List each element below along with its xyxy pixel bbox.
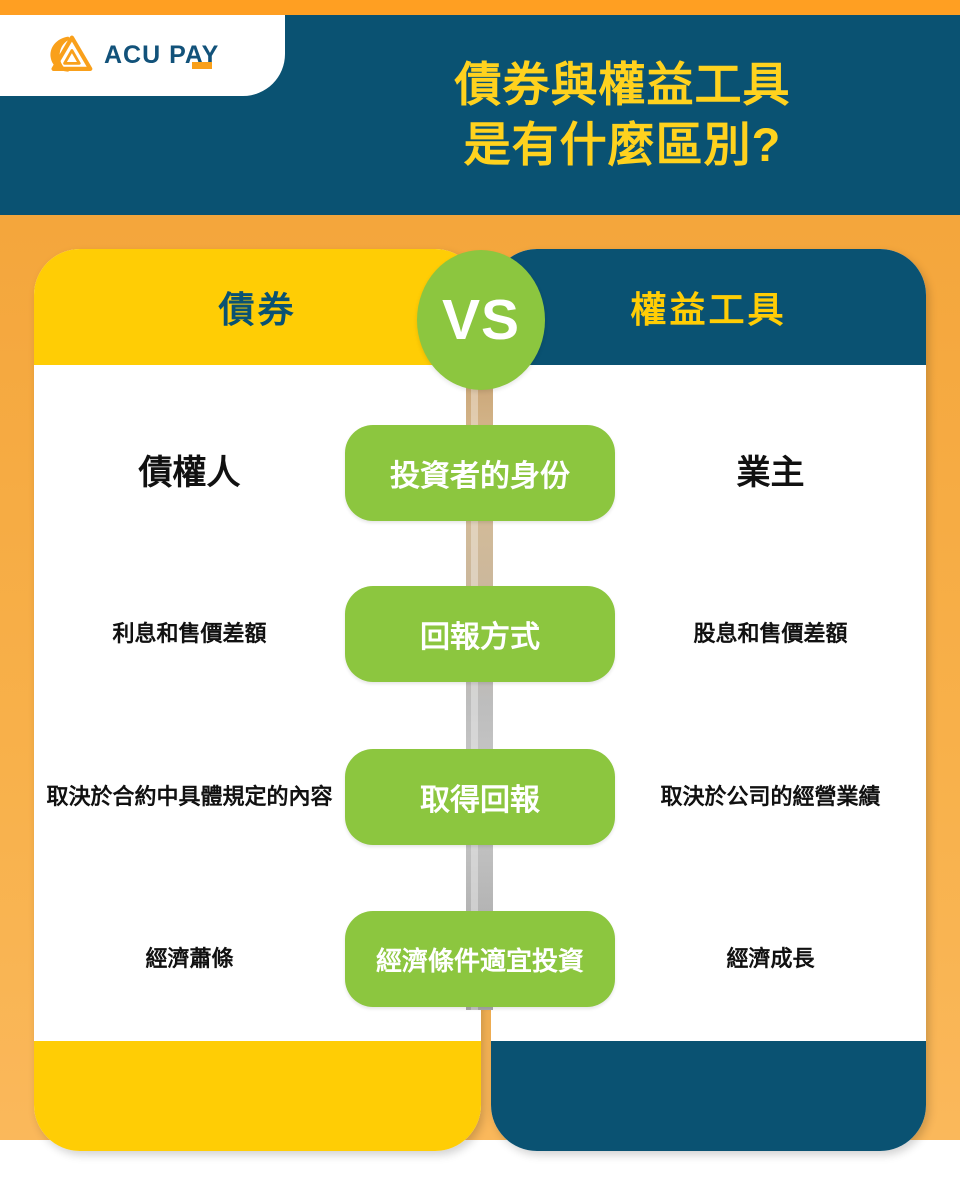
equity-value: 業主 xyxy=(615,425,926,521)
page-header: ACU PAY 債券與權益工具 是有什麼區別? xyxy=(0,15,960,215)
bonds-value: 利息和售價差額 xyxy=(34,586,345,682)
panel-footer-equity xyxy=(491,1041,926,1151)
brand-logo-panel: ACU PAY xyxy=(0,15,285,96)
equity-value: 經濟成長 xyxy=(615,911,926,1007)
brand-name: ACU PAY xyxy=(104,41,219,70)
comparison-row: 經濟蕭條 經濟條件適宜投資 經濟成長 xyxy=(0,911,960,1007)
panel-footer-bonds xyxy=(34,1041,481,1151)
top-accent-strip xyxy=(0,0,960,15)
comparison-panel-equity: 權益工具 xyxy=(491,249,926,1151)
bonds-value: 經濟蕭條 xyxy=(34,911,345,1007)
criterion-pill: 投資者的身份 xyxy=(345,425,615,521)
comparison-row: 債權人 投資者的身份 業主 xyxy=(0,425,960,521)
comparison-row: 取決於合約中具體規定的內容 取得回報 取決於公司的經營業績 xyxy=(0,749,960,845)
column-header-bonds: 債券 xyxy=(34,249,481,365)
equity-value: 股息和售價差額 xyxy=(615,586,926,682)
bonds-value: 債權人 xyxy=(34,425,345,521)
acupay-a-swoosh-logo-icon xyxy=(48,33,94,79)
bonds-value: 取決於合約中具體規定的內容 xyxy=(34,749,345,845)
page-title-line-1: 債券與權益工具 xyxy=(455,55,791,115)
page-title-line-2: 是有什麼區別? xyxy=(464,115,782,175)
comparison-row: 利息和售價差額 回報方式 股息和售價差額 xyxy=(0,586,960,682)
equity-value: 取決於公司的經營業績 xyxy=(615,749,926,845)
comparison-panel-bonds: 債券 xyxy=(34,249,481,1151)
criterion-pill: 取得回報 xyxy=(345,749,615,845)
criterion-pill: 回報方式 xyxy=(345,586,615,682)
brand-underline-accent xyxy=(192,62,212,69)
column-header-equity: 權益工具 xyxy=(491,249,926,365)
page-title: 債券與權益工具 是有什麼區別? xyxy=(285,15,960,215)
criterion-pill: 經濟條件適宜投資 xyxy=(345,911,615,1007)
versus-badge: VS xyxy=(417,250,545,390)
